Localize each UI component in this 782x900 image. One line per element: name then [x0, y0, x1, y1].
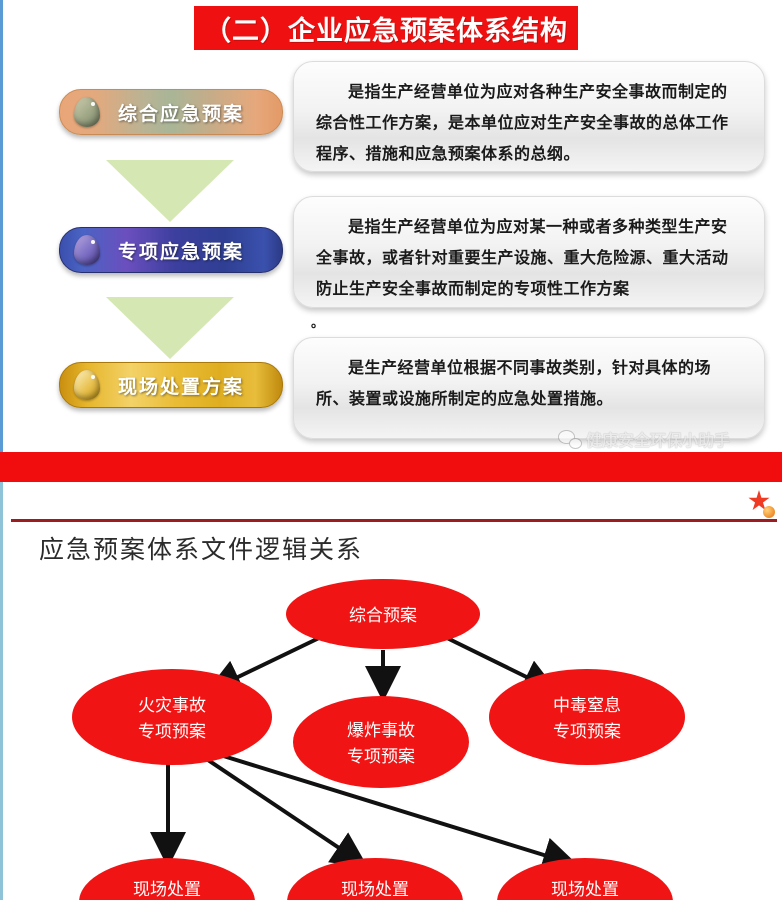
description-card-special: 是指生产经营单位为应对某一种或者多种类型生产安全事故，或者针对重要生产设施、重大…: [293, 196, 765, 308]
diagram-node-label-line1: 中毒窒息: [553, 696, 621, 716]
description-text: 是指生产经营单位为应对各种生产安全事故而制定的综合性工作方案，是本单位应对生产安…: [316, 76, 742, 169]
red-separator-band: [0, 452, 782, 482]
header-rule: [11, 519, 777, 522]
watermark-text: 健康安全环保小助手: [586, 427, 730, 451]
watermark: 健康安全环保小助手: [559, 427, 730, 451]
plan-hierarchy-diagram: 综合预案 火灾事故 专项预案 爆炸事故 专项预案 中毒窒息 专项预案 现: [3, 552, 782, 900]
level-button-special-plan[interactable]: 专项应急预案: [59, 227, 283, 273]
diagram-node-onsite-1[interactable]: 现场处置 方案 1: [79, 858, 255, 900]
slide-title-banner: （二）企业应急预案体系结构: [194, 6, 578, 50]
diagram-node-label-line2: 专项预案: [553, 722, 621, 742]
diagram-node-onsite-3[interactable]: 现场处置 方案 3: [497, 858, 673, 900]
level-button-comprehensive-plan[interactable]: 综合应急预案: [59, 89, 283, 135]
page-title: （二）企业应急预案体系结构: [204, 9, 568, 48]
diagram-node-label-line2: 专项预案: [138, 722, 206, 742]
diagram-node-root[interactable]: 综合预案: [286, 579, 480, 649]
diagram-node-label-line1: 现场处置: [551, 880, 619, 900]
diagram-node-onsite-2[interactable]: 现场处置 方案 2: [287, 858, 463, 900]
level-button-label: 专项应急预案: [60, 237, 268, 264]
diagram-node-fire[interactable]: 火灾事故 专项预案: [72, 669, 272, 765]
diagram-node-label-line1: 现场处置: [341, 880, 409, 900]
diagram-node-poisoning[interactable]: 中毒窒息 专项预案: [489, 669, 685, 765]
description-text: 是生产经营单位根据不同事故类别，针对具体的场所、装置或设施所制定的应急处置措施。: [316, 352, 742, 414]
description-trailing-punctuation: 。: [311, 312, 324, 331]
diagram-node-label-line1: 爆炸事故: [347, 721, 415, 741]
diagram-node-label-line1: 现场处置: [133, 880, 201, 900]
diagram-node-label: 综合预案: [349, 606, 417, 626]
description-card-comprehensive: 是指生产经营单位为应对各种生产安全事故而制定的综合性工作方案，是本单位应对生产安…: [293, 61, 765, 172]
decorative-badge-icon: [746, 490, 776, 520]
down-arrow-icon-2: [106, 297, 234, 359]
diagram-node-explosion[interactable]: 爆炸事故 专项预案: [293, 696, 469, 788]
down-arrow-icon-1: [106, 160, 234, 222]
wechat-icon: [559, 431, 581, 448]
diagram-node-label-line2: 专项预案: [347, 747, 415, 767]
diagram-node-label-line1: 火灾事故: [138, 696, 206, 716]
top-slide: （二）企业应急预案体系结构 综合应急预案 是指生产经营单位为应对各种生产安全事故…: [0, 0, 782, 482]
level-button-label: 现场处置方案: [60, 372, 268, 399]
level-button-onsite-plan[interactable]: 现场处置方案: [59, 362, 283, 408]
description-text: 是指生产经营单位为应对某一种或者多种类型生产安全事故，或者针对重要生产设施、重大…: [316, 211, 742, 304]
level-button-label: 综合应急预案: [60, 99, 268, 126]
description-card-onsite: 是生产经营单位根据不同事故类别，针对具体的场所、装置或设施所制定的应急处置措施。: [293, 337, 765, 439]
bottom-slide: 应急预案体系文件逻辑关系 综合预案: [0, 482, 782, 900]
